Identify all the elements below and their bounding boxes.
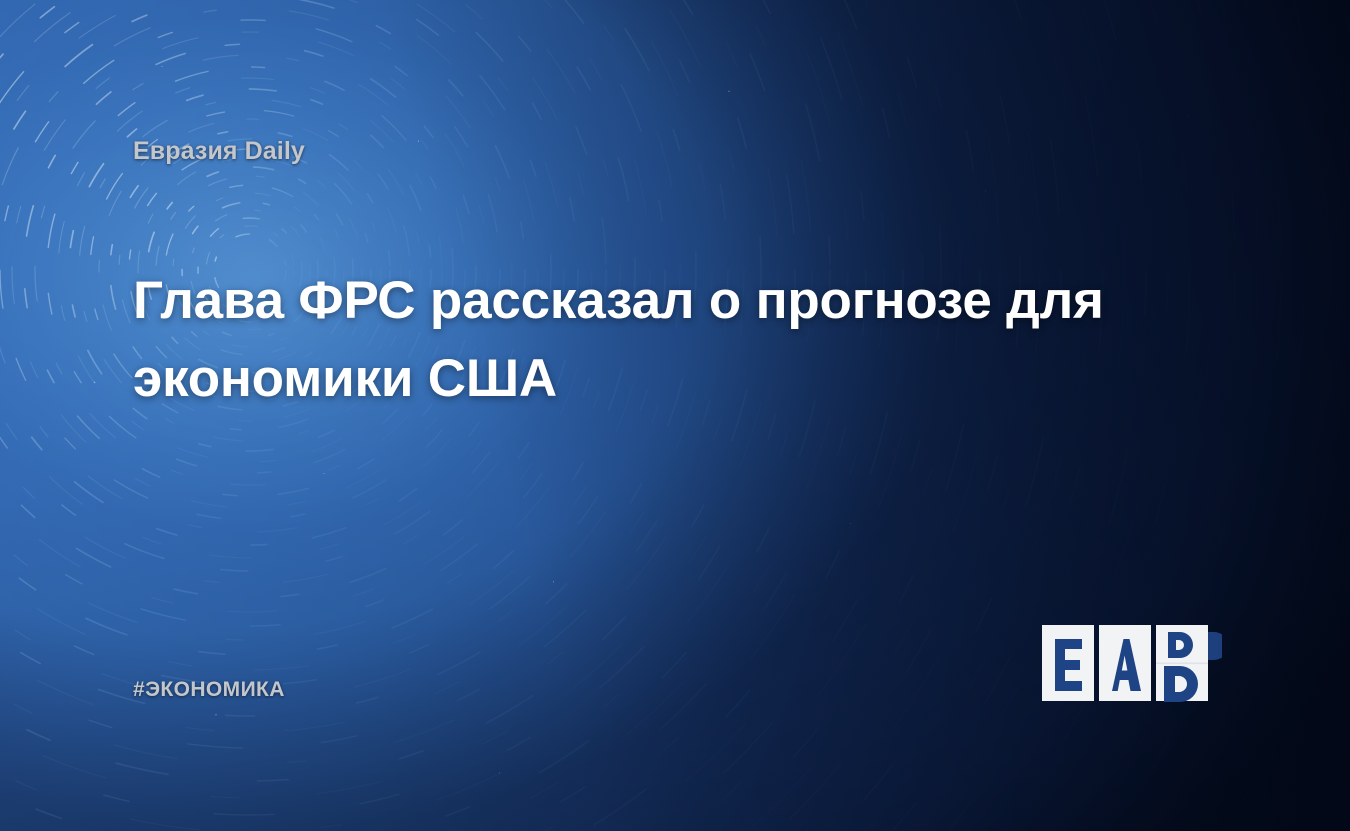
news-card: Евразия Daily Глава ФРС рассказал о прог… (0, 0, 1350, 831)
logo-tile-d-seam (1156, 663, 1208, 665)
logo-tile-a (1099, 625, 1151, 701)
logo-letter-d-overflow-glyph (1208, 632, 1222, 660)
site-brand-label: Евразия Daily (133, 137, 305, 166)
category-tag: #ЭКОНОМИКА (133, 678, 285, 702)
page-title: Глава ФРС рассказал о прогнозе для эконо… (133, 262, 1143, 418)
logo-letter-e-glyph (1055, 639, 1082, 691)
eadaily-logo (1042, 622, 1222, 704)
